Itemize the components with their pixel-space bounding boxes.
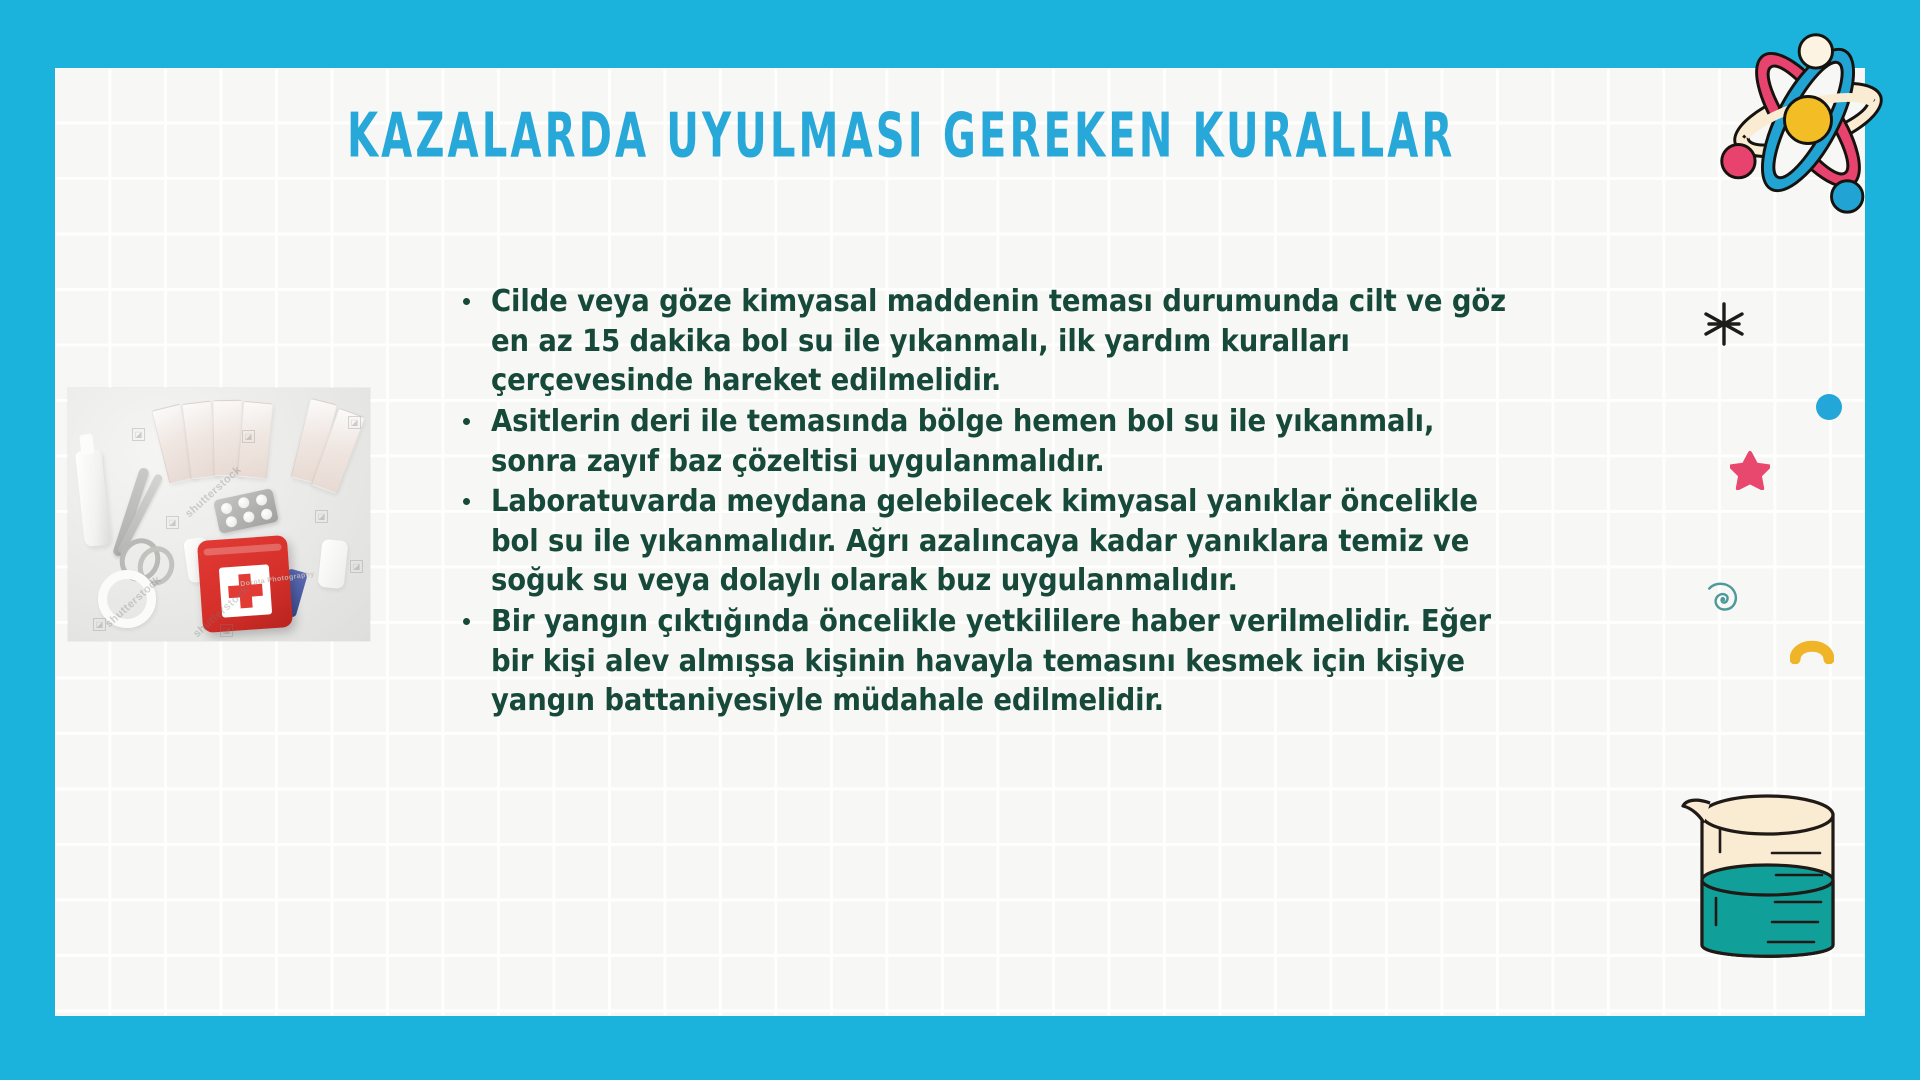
first-aid-kit-photo: shutterstock shutterstock shutterstock D… [68,388,370,641]
beaker-icon [1680,770,1855,985]
atom-icon [1710,22,1906,218]
list-item-text: Bir yangın çıktığında öncelikle yetkilil… [491,604,1491,718]
bullet-list: Cilde veya göze kimyasal maddenin teması… [455,282,1530,722]
bullet-dot-icon [463,498,470,505]
page-title: KAZALARDA UYULMASI GEREKEN KURALLAR [347,103,1443,168]
pouch-zipper [203,543,281,555]
bullet-dot-icon [463,418,470,425]
list-item: Asitlerin deri ile temasında bölge hemen… [455,402,1530,481]
list-item: Bir yangın çıktığında öncelikle yetkilil… [455,602,1530,721]
bullet-dot-icon [463,618,470,625]
asterisk-icon [1700,300,1748,355]
slide-canvas: KAZALARDA UYULMASI GEREKEN KURALLAR [0,0,1920,1080]
blue-dot-icon [1816,394,1842,420]
list-item: Laboratuvarda meydana gelebilecek kimyas… [455,482,1530,601]
gold-arc-icon [1790,632,1830,662]
gauze-roll [318,539,349,589]
list-item: Cilde veya göze kimyasal maddenin teması… [455,282,1530,401]
list-item-text: Laboratuvarda meydana gelebilecek kimyas… [491,484,1478,598]
list-item-text: Cilde veya göze kimyasal maddenin teması… [491,284,1506,398]
bullet-dot-icon [463,298,470,305]
spiral-icon [1703,580,1743,618]
list-item-text: Asitlerin deri ile temasında bölge hemen… [491,404,1434,479]
pink-star-icon [1730,450,1770,490]
